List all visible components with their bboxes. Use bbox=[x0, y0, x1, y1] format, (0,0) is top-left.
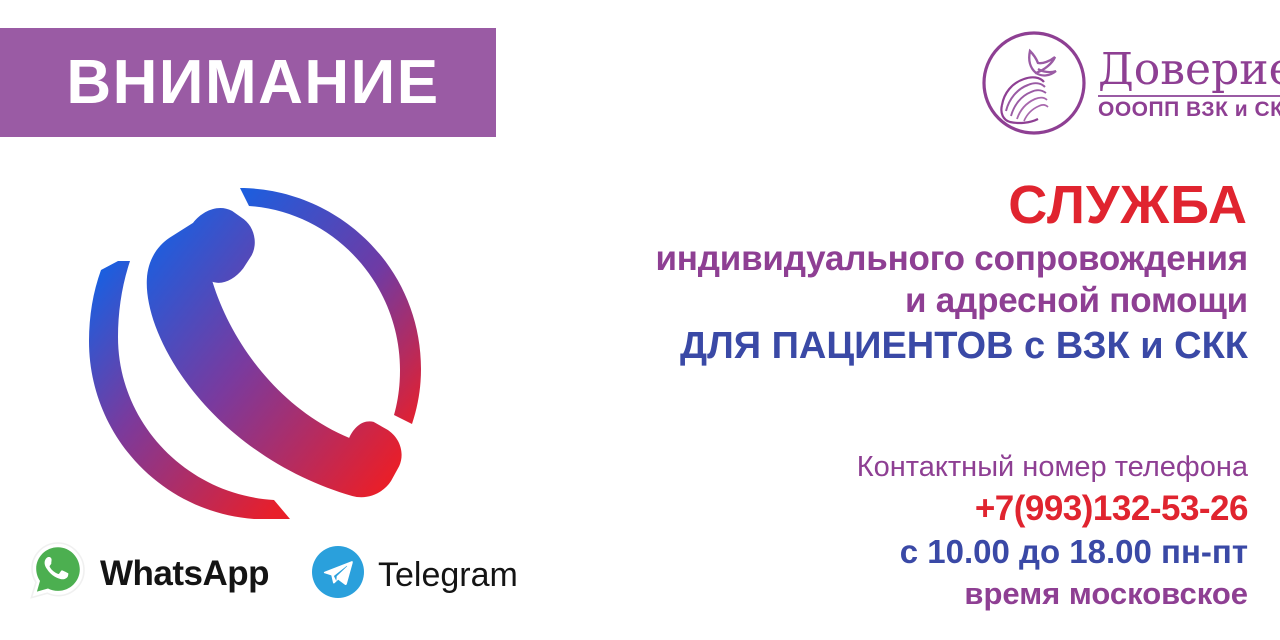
messenger-row: WhatsApp Telegram bbox=[28, 534, 528, 616]
contact-block: Контактный номер телефона +7(993)132-53-… bbox=[608, 450, 1248, 614]
phone-handset-with-arcs-icon bbox=[78, 158, 448, 526]
contact-phone-label: Контактный номер телефона bbox=[608, 450, 1248, 485]
attention-banner: ВНИМАНИЕ bbox=[0, 28, 496, 137]
brand-logo: Доверие ОООПП ВЗК и СКК bbox=[978, 22, 1252, 144]
telegram-badge[interactable]: Telegram bbox=[310, 544, 518, 605]
hand-with-butterfly-circle-icon bbox=[978, 27, 1090, 139]
telegram-icon bbox=[310, 544, 366, 605]
attention-label: ВНИМАНИЕ bbox=[66, 52, 439, 114]
telegram-label: Telegram bbox=[378, 558, 518, 592]
headline-patients: ДЛЯ ПАЦИЕНТОВ с ВЗК и СКК bbox=[608, 325, 1248, 369]
contact-working-hours: с 10.00 до 18.00 пн-пт bbox=[608, 532, 1248, 573]
whatsapp-icon bbox=[28, 540, 88, 607]
brand-subtitle: ОООПП ВЗК и СКК bbox=[1098, 99, 1280, 121]
whatsapp-label: WhatsApp bbox=[100, 556, 269, 591]
brand-wordmark: Доверие ОООПП ВЗК и СКК bbox=[1098, 44, 1280, 121]
headline-subtitle-line2: и адресной помощи bbox=[608, 280, 1248, 321]
brand-divider bbox=[1098, 95, 1280, 97]
brand-title: Доверие bbox=[1098, 48, 1280, 92]
headline-subtitle-line1: индивидуального сопровождения bbox=[608, 238, 1248, 279]
contact-timezone: время московское bbox=[608, 575, 1248, 613]
headline-service: СЛУЖБА bbox=[608, 176, 1248, 234]
whatsapp-badge[interactable]: WhatsApp bbox=[28, 540, 269, 607]
poster-canvas: ВНИМАНИЕ bbox=[0, 0, 1280, 640]
contact-phone-number[interactable]: +7(993)132-53-26 bbox=[608, 487, 1248, 530]
headline-block: СЛУЖБА индивидуального сопровождения и а… bbox=[608, 176, 1248, 369]
